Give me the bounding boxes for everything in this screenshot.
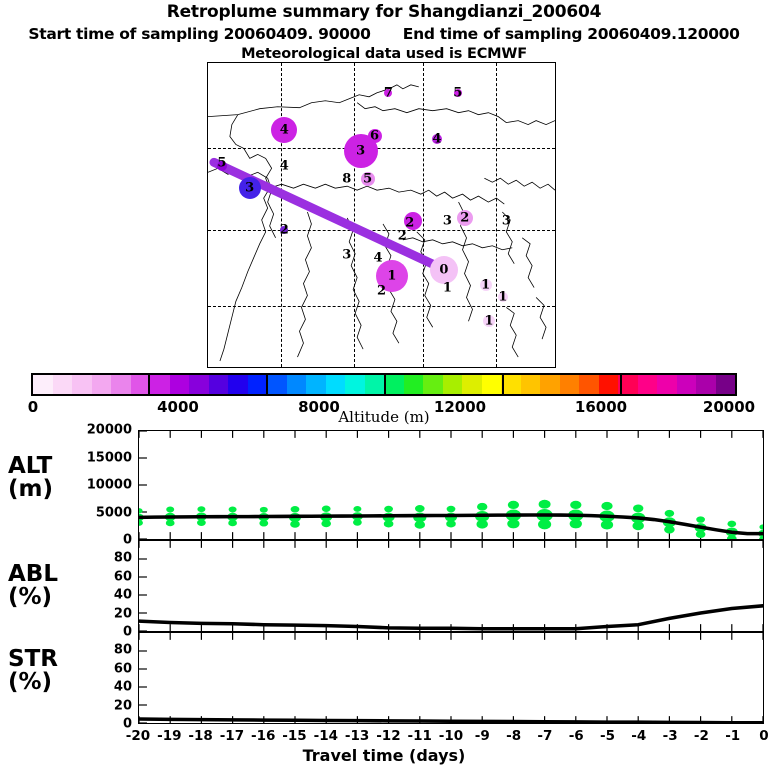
- colorbar-swatch-17: [365, 375, 385, 394]
- altitude-spread-marker: [290, 520, 300, 527]
- marker-day-label: 3: [502, 215, 511, 228]
- x-tick-label: -20: [126, 728, 150, 744]
- colorbar-swatch-4: [111, 375, 131, 394]
- y-tick-label: 40: [70, 588, 132, 603]
- colorbar-swatch-23: [482, 375, 502, 394]
- altitude-spread-marker: [260, 507, 268, 513]
- abl-label-line1: ABL: [8, 563, 58, 586]
- altitude-spread-marker: [353, 506, 361, 512]
- sampling-time-line: Start time of sampling 20060409. 90000 E…: [0, 25, 768, 43]
- altitude-spread-marker: [166, 520, 175, 527]
- abl-panel[interactable]: [138, 540, 764, 632]
- abl-plot: [139, 541, 763, 631]
- marker-day-label: 3: [443, 215, 452, 228]
- altitude-spread-marker: [665, 510, 675, 517]
- str-row-label: STR (%): [8, 648, 58, 694]
- x-tick-label: -12: [376, 728, 400, 744]
- y-tick-label: 80: [70, 551, 132, 566]
- altitude-spread-marker: [507, 519, 519, 528]
- marker-day-label: 4: [280, 123, 289, 136]
- x-tick-label: 0: [759, 728, 768, 744]
- marker-day-label: 5: [363, 172, 372, 185]
- y-tick-label: 0: [70, 625, 132, 640]
- alt-label-line2: (m): [8, 478, 53, 501]
- altitude-spread-marker: [197, 519, 206, 526]
- altitude-spread-marker: [197, 506, 205, 512]
- altitude-spread-marker: [259, 520, 268, 527]
- x-tick-label: -13: [345, 728, 369, 744]
- abl-row-label: ABL (%): [8, 563, 58, 609]
- x-tick-label: -10: [439, 728, 463, 744]
- marker-day-label: 3: [245, 181, 254, 194]
- alt-panel[interactable]: [138, 430, 764, 540]
- marker-day-label: 3: [356, 145, 365, 158]
- altitude-spread-marker: [632, 522, 643, 531]
- colorbar-separator: [148, 373, 150, 396]
- y-tick-label: 10000: [70, 478, 132, 493]
- marker-day-label: 3: [342, 248, 351, 261]
- altitude-spread-marker: [696, 531, 706, 538]
- colorbar-separator: [384, 373, 386, 396]
- colorbar-swatch-0: [33, 375, 53, 394]
- alt-label-line1: ALT: [8, 455, 53, 478]
- x-tick-label: -15: [282, 728, 306, 744]
- colorbar-swatch-6: [150, 375, 170, 394]
- altitude-spread-marker: [570, 519, 582, 528]
- str-label-line1: STR: [8, 648, 58, 671]
- marker-day-label: 2: [405, 217, 414, 230]
- colorbar-swatch-35: [716, 375, 736, 394]
- map-inner: 54437563854232232341201111: [208, 63, 555, 367]
- marker-day-label: 2: [280, 224, 289, 237]
- colorbar-swatch-34: [696, 375, 716, 394]
- colorbar-swatch-28: [579, 375, 599, 394]
- altitude-spread-marker: [570, 501, 581, 509]
- y-tick-label: 20000: [70, 423, 132, 438]
- altitude-spread-marker: [384, 506, 393, 512]
- altitude-spread-marker: [446, 520, 456, 527]
- y-tick-label: 0: [70, 717, 132, 732]
- marker-day-label: 4: [373, 251, 382, 264]
- colorbar-swatch-3: [92, 375, 112, 394]
- altitude-spread-marker: [477, 503, 487, 511]
- altitude-spread-marker: [696, 516, 705, 522]
- colorbar-swatch-14: [306, 375, 326, 394]
- altitude-spread-marker: [353, 519, 362, 526]
- altitude-spread-marker: [601, 520, 613, 529]
- altitude-spread-marker: [664, 526, 675, 534]
- x-tick-label: -11: [407, 728, 431, 744]
- altitude-spread-marker: [166, 507, 174, 513]
- altitude-spread-marker: [291, 506, 300, 512]
- altitude-spread-marker: [508, 501, 519, 509]
- x-tick-label: -16: [251, 728, 275, 744]
- altitude-spread-marker: [322, 506, 331, 512]
- altitude-spread-marker: [228, 520, 237, 527]
- altitude-spread-marker: [759, 524, 763, 529]
- marker-day-label: 1: [481, 278, 490, 291]
- start-time-label: Start time of sampling 20060409. 90000: [28, 25, 370, 43]
- colorbar-swatch-20: [423, 375, 443, 394]
- colorbar-swatch-13: [287, 375, 307, 394]
- marker-day-label: 7: [384, 87, 393, 100]
- str-panel[interactable]: [138, 632, 764, 724]
- marker-day-label: 1: [443, 281, 452, 294]
- altitude-spread-marker: [139, 520, 143, 526]
- altitude-spread-marker: [384, 520, 394, 527]
- retroplume-map[interactable]: 54437563854232232341201111: [207, 62, 556, 368]
- centroid-marker-layer: 54437563854232232341201111: [208, 63, 555, 367]
- marker-day-label: 2: [377, 285, 386, 298]
- x-tick-label: -4: [631, 728, 646, 744]
- colorbar-swatch-32: [657, 375, 677, 394]
- altitude-spread-marker: [447, 506, 456, 512]
- colorbar-swatch-19: [404, 375, 424, 394]
- y-tick-label: 20: [70, 606, 132, 621]
- x-tick-label: -8: [506, 728, 521, 744]
- marker-day-label: 4: [432, 133, 441, 146]
- colorbar-swatch-33: [677, 375, 697, 394]
- colorbar-swatch-7: [170, 375, 190, 394]
- marker-day-label: 5: [217, 157, 226, 170]
- colorbar-swatch-2: [72, 375, 92, 394]
- colorbar-swatch-11: [248, 375, 268, 394]
- y-tick-label: 0: [70, 533, 132, 548]
- met-data-label: Meteorological data used is ECMWF: [0, 46, 768, 62]
- y-tick-label: 60: [70, 661, 132, 676]
- altitude-spread-marker: [601, 502, 612, 510]
- colorbar-swatch-26: [540, 375, 560, 394]
- x-tick-label: -14: [314, 728, 338, 744]
- colorbar-swatch-12: [267, 375, 287, 394]
- colorbar-swatch-16: [345, 375, 365, 394]
- marker-day-label: 1: [387, 269, 396, 282]
- colorbar-swatch-31: [638, 375, 658, 394]
- altitude-spread-marker: [476, 520, 487, 529]
- y-tick-label: 20: [70, 698, 132, 713]
- x-tick-label: -7: [537, 728, 552, 744]
- colorbar-separator: [502, 373, 504, 396]
- marker-day-label: 0: [439, 263, 448, 276]
- colorbar-swatch-21: [443, 375, 463, 394]
- timeseries-panels: [138, 430, 764, 724]
- colorbar-swatch-9: [209, 375, 229, 394]
- marker-day-label: 8: [342, 172, 351, 185]
- altitude-spread-marker: [139, 508, 143, 513]
- marker-day-label: 4: [280, 160, 289, 173]
- colorbar-swatch-27: [560, 375, 580, 394]
- alt-row-label: ALT (m): [8, 455, 53, 501]
- colorbar-separator: [620, 373, 622, 396]
- y-tick-label: 5000: [70, 505, 132, 520]
- abl-label-line2: (%): [8, 586, 58, 609]
- altitude-spread-marker: [633, 505, 643, 513]
- y-tick-label: 40: [70, 680, 132, 695]
- altitude-spread-marker: [415, 505, 425, 512]
- colorbar-swatch-10: [228, 375, 248, 394]
- y-tick-label: 60: [70, 569, 132, 584]
- altitude-spread-marker: [539, 500, 551, 509]
- colorbar-swatch-25: [521, 375, 541, 394]
- colorbar-swatch-29: [599, 375, 619, 394]
- y-tick-label: 80: [70, 643, 132, 658]
- x-tick-label: -9: [475, 728, 490, 744]
- x-axis-title: Travel time (days): [0, 746, 768, 765]
- x-tick-label: -1: [725, 728, 740, 744]
- str-plot: [139, 633, 763, 723]
- y-tick-label: 15000: [70, 450, 132, 465]
- x-tick-label: -6: [569, 728, 584, 744]
- altitude-spread-marker: [759, 536, 763, 539]
- marker-day-label: 2: [460, 212, 469, 225]
- altitude-spread-marker: [229, 507, 237, 513]
- x-tick-label: -18: [188, 728, 212, 744]
- x-tick-label: -5: [600, 728, 615, 744]
- marker-day-label: 5: [453, 87, 462, 100]
- x-tick-label: -2: [694, 728, 709, 744]
- str-label-line2: (%): [8, 671, 58, 694]
- alt-plot: [139, 431, 763, 539]
- altitude-spread-marker: [538, 519, 551, 529]
- page-title: Retroplume summary for Shangdianzi_20060…: [0, 2, 768, 22]
- x-tick-label: -17: [220, 728, 244, 744]
- marker-day-label: 1: [485, 315, 494, 328]
- x-tick-label: -3: [663, 728, 678, 744]
- marker-day-label: 2: [398, 230, 407, 243]
- colorbar-swatch-22: [462, 375, 482, 394]
- colorbar-swatch-8: [189, 375, 209, 394]
- marker-day-label: 1: [498, 291, 507, 304]
- colorbar-swatch-15: [326, 375, 346, 394]
- altitude-spread-marker: [321, 520, 331, 527]
- altitude-spread-marker: [727, 521, 736, 527]
- x-tick-label: -19: [157, 728, 181, 744]
- colorbar-swatch-1: [53, 375, 73, 394]
- altitude-spread-marker: [415, 521, 426, 529]
- colorbar-swatch-18: [384, 375, 404, 394]
- end-time-label: End time of sampling 20060409.120000: [403, 25, 740, 43]
- colorbar-separator: [266, 373, 268, 396]
